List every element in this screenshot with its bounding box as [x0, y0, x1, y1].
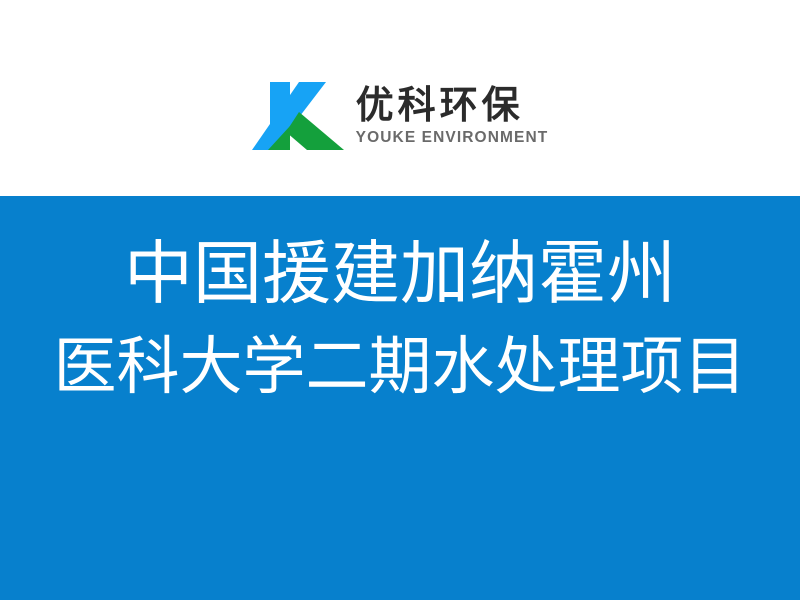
logo-wordmark: 优科环保 YOUKE ENVIRONMENT — [356, 86, 549, 146]
project-title-line-2: 医科大学二期水处理项目 — [54, 335, 747, 398]
youke-k-logo-mark-icon — [252, 82, 344, 150]
company-name-cn: 优科环保 — [356, 86, 524, 126]
company-logo: 优科环保 YOUKE ENVIRONMENT — [252, 82, 549, 150]
project-title-line-1: 中国援建加纳霍州 — [124, 240, 676, 309]
project-title-banner: 中国援建加纳霍州 医科大学二期水处理项目 — [0, 196, 800, 600]
company-name-en: YOUKE ENVIRONMENT — [356, 129, 549, 146]
header-bar: 优科环保 YOUKE ENVIRONMENT — [0, 0, 800, 196]
slide-root: 优科环保 YOUKE ENVIRONMENT 中国援建加纳霍州 医科大学二期水处… — [0, 0, 800, 600]
